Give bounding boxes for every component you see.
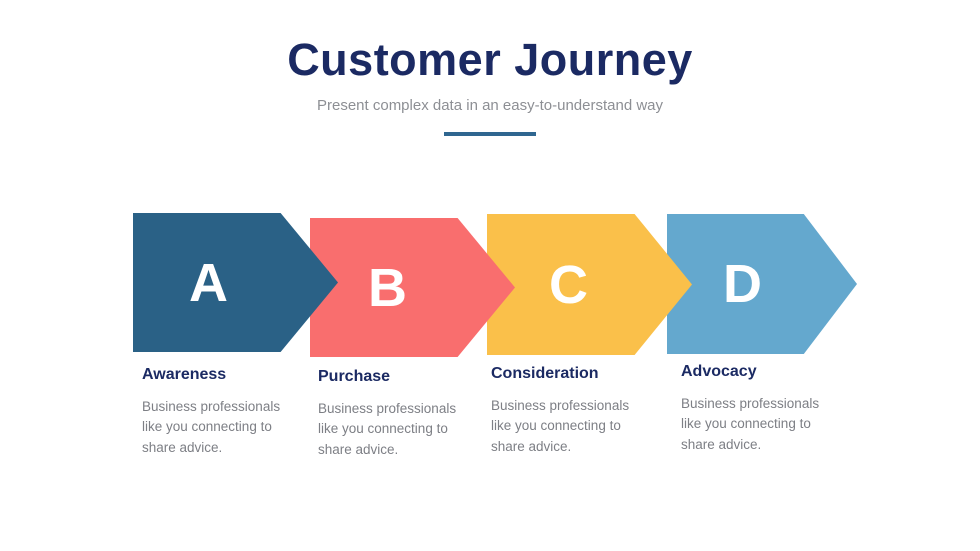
caption-body-consideration: Business professionals like you connecti… — [491, 396, 651, 458]
caption-awareness: Awareness Business professionals like yo… — [142, 366, 302, 458]
caption-consideration: Consideration Business professionals lik… — [491, 365, 651, 457]
caption-body-awareness: Business professionals like you connecti… — [142, 397, 302, 459]
caption-title-advocacy: Advocacy — [681, 363, 841, 381]
caption-title-awareness: Awareness — [142, 366, 302, 384]
arrow-letter-c: C — [549, 258, 588, 312]
caption-title-consideration: Consideration — [491, 365, 651, 383]
caption-purchase: Purchase Business professionals like you… — [318, 368, 478, 460]
caption-body-purchase: Business professionals like you connecti… — [318, 399, 478, 461]
caption-body-advocacy: Business professionals like you connecti… — [681, 394, 841, 456]
arrow-letter-b: B — [368, 261, 407, 315]
caption-advocacy: Advocacy Business professionals like you… — [681, 363, 841, 455]
slide-canvas: Customer Journey Present complex data in… — [0, 0, 980, 551]
arrow-letter-a: A — [189, 256, 228, 310]
caption-title-purchase: Purchase — [318, 368, 478, 386]
arrow-letter-d: D — [723, 257, 762, 311]
